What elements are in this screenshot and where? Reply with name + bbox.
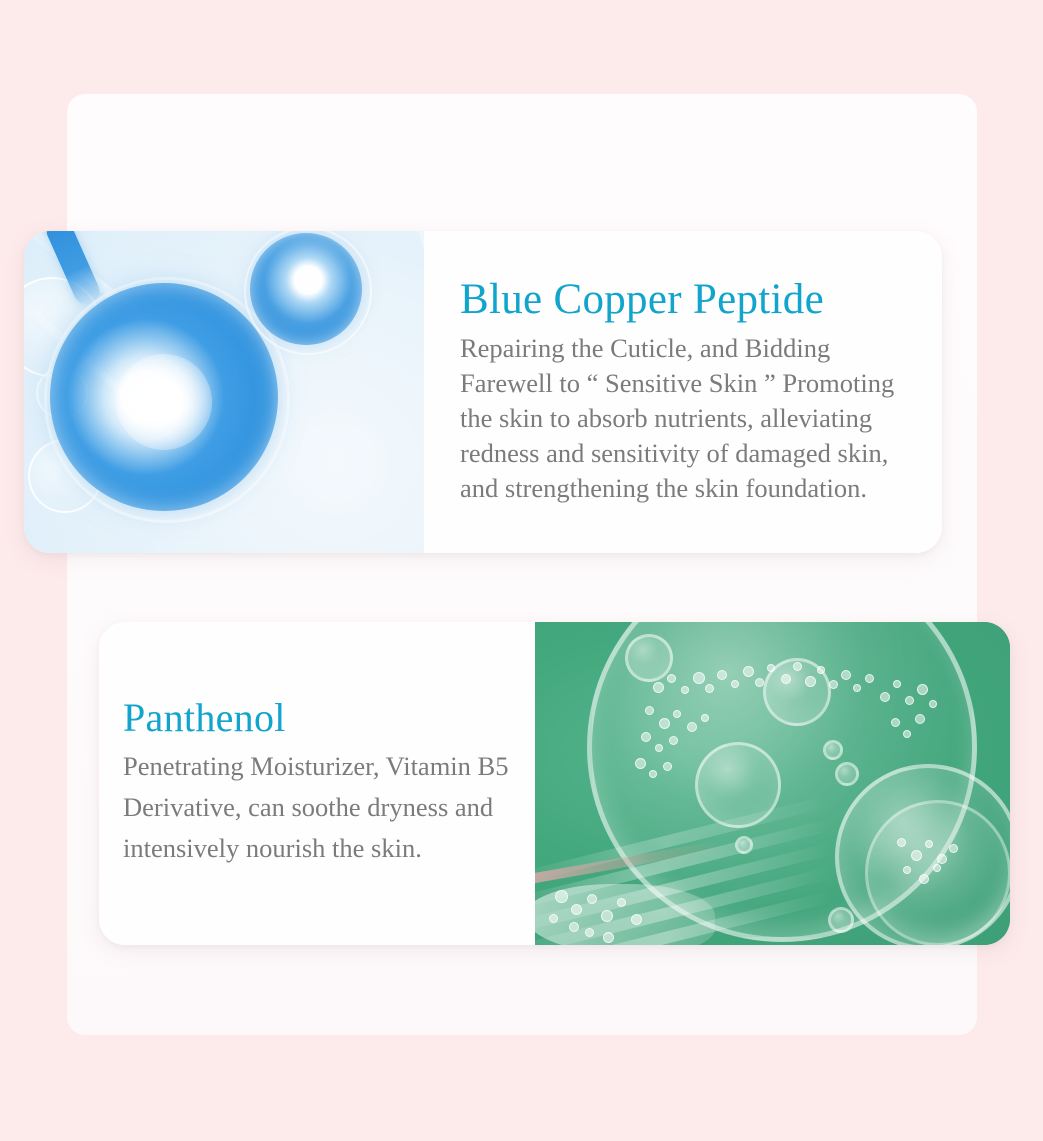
micro-bubble <box>673 710 681 718</box>
micro-bubble <box>667 674 676 683</box>
micro-bubble <box>603 932 614 943</box>
card-text-blue: Blue Copper Peptide Repairing the Cuticl… <box>424 231 942 553</box>
green-serum-image <box>535 622 1010 945</box>
micro-bubble <box>767 664 775 672</box>
micro-bubble <box>917 684 928 695</box>
micro-bubble <box>601 910 613 922</box>
micro-bubble <box>549 914 558 923</box>
micro-bubble <box>587 894 597 904</box>
ingredient-card-blue-copper-peptide[interactable]: Blue Copper Peptide Repairing the Cuticl… <box>24 231 942 553</box>
micro-bubble <box>705 684 714 693</box>
card-description-blue-copper-peptide: Repairing the Cuticle, and Bidding Farew… <box>460 331 918 506</box>
micro-bubble <box>793 662 802 671</box>
micro-bubble <box>731 680 739 688</box>
micro-bubble <box>681 686 689 694</box>
micro-bubble <box>919 874 929 884</box>
micro-bubble <box>655 744 663 752</box>
micro-bubble <box>891 718 900 727</box>
micro-bubble <box>687 722 697 732</box>
micro-bubble <box>781 674 791 684</box>
micro-bubble <box>933 864 941 872</box>
micro-bubble <box>631 914 642 925</box>
micro-bubble <box>853 684 861 692</box>
micro-bubble <box>701 714 709 722</box>
micro-bubble <box>649 770 657 778</box>
bubble <box>823 740 843 760</box>
bubble-large-inner <box>865 800 1010 945</box>
micro-bubble <box>555 890 568 903</box>
micro-bubble <box>893 680 901 688</box>
micro-bubble <box>903 730 911 738</box>
micro-bubble <box>937 854 947 864</box>
blue-serum-artwork <box>24 231 424 553</box>
micro-bubble <box>911 850 922 861</box>
micro-bubble <box>841 670 851 680</box>
card-title-panthenol: Panthenol <box>123 698 511 739</box>
bubble <box>835 762 859 786</box>
bubble <box>695 742 781 828</box>
micro-bubble <box>897 838 906 847</box>
main-droplet <box>50 283 278 511</box>
micro-bubble <box>635 758 646 769</box>
micro-bubble <box>905 696 914 705</box>
micro-bubble <box>755 678 764 687</box>
green-serum-artwork <box>535 622 1010 945</box>
micro-bubble <box>641 732 651 742</box>
micro-bubble <box>659 718 670 729</box>
micro-bubble <box>925 840 933 848</box>
micro-bubble <box>743 666 754 677</box>
ingredient-card-panthenol[interactable]: Panthenol Penetrating Moisturizer, Vitam… <box>99 622 1010 945</box>
micro-bubble <box>653 682 664 693</box>
bubble <box>625 634 673 682</box>
micro-bubble <box>569 922 579 932</box>
card-title-blue-copper-peptide: Blue Copper Peptide <box>460 278 918 322</box>
micro-bubble <box>817 666 825 674</box>
micro-bubble <box>880 692 890 702</box>
blue-serum-image <box>24 231 424 553</box>
card-description-panthenol: Penetrating Moisturizer, Vitamin B5 Deri… <box>123 746 511 869</box>
micro-bubble <box>645 706 654 715</box>
micro-bubble <box>805 676 816 687</box>
light-streak <box>396 231 424 372</box>
micro-bubble <box>571 904 582 915</box>
micro-bubble <box>693 672 705 684</box>
micro-bubble <box>663 762 672 771</box>
micro-bubble <box>717 670 727 680</box>
micro-bubble <box>669 736 678 745</box>
micro-bubble <box>949 844 958 853</box>
secondary-droplet <box>250 233 362 345</box>
bubble <box>735 836 753 854</box>
micro-bubble <box>585 928 594 937</box>
card-text-panthenol: Panthenol Penetrating Moisturizer, Vitam… <box>99 622 535 945</box>
micro-bubble <box>829 680 838 689</box>
micro-bubble <box>617 898 626 907</box>
micro-bubble <box>903 866 911 874</box>
micro-bubble <box>865 674 874 683</box>
micro-bubble <box>915 714 925 724</box>
micro-bubble <box>929 700 937 708</box>
bubble <box>828 907 854 933</box>
